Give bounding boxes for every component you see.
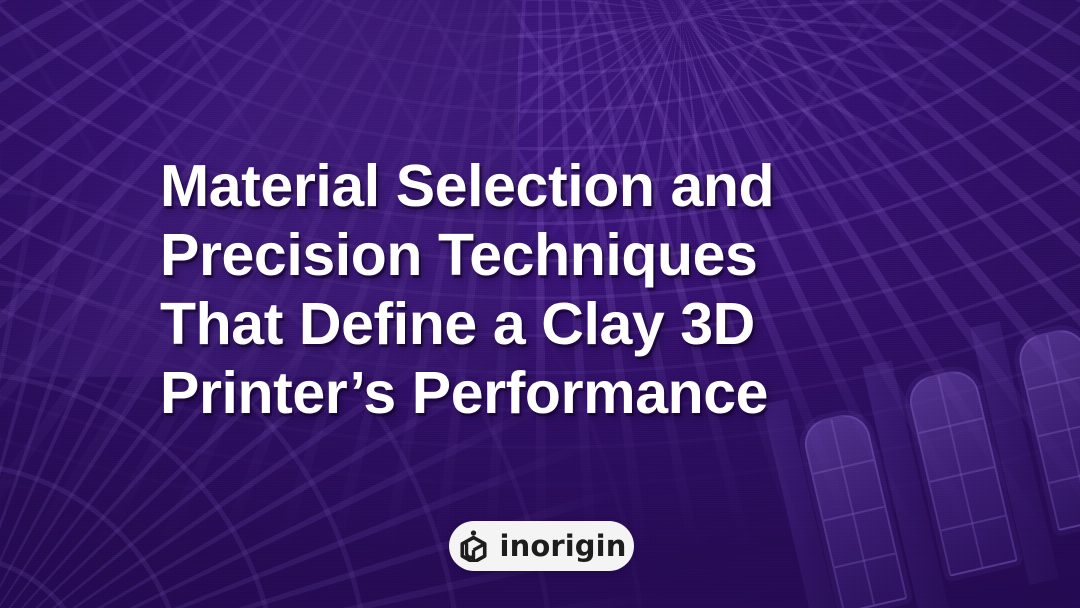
- inorigin-cube-icon: [457, 529, 490, 562]
- inorigin-logo-badge[interactable]: inorigin: [449, 521, 634, 571]
- hero-banner: Material Selection and Precision Techniq…: [0, 0, 1080, 608]
- inorigin-wordmark: inorigin: [500, 532, 627, 561]
- hero-title: Material Selection and Precision Techniq…: [160, 152, 960, 428]
